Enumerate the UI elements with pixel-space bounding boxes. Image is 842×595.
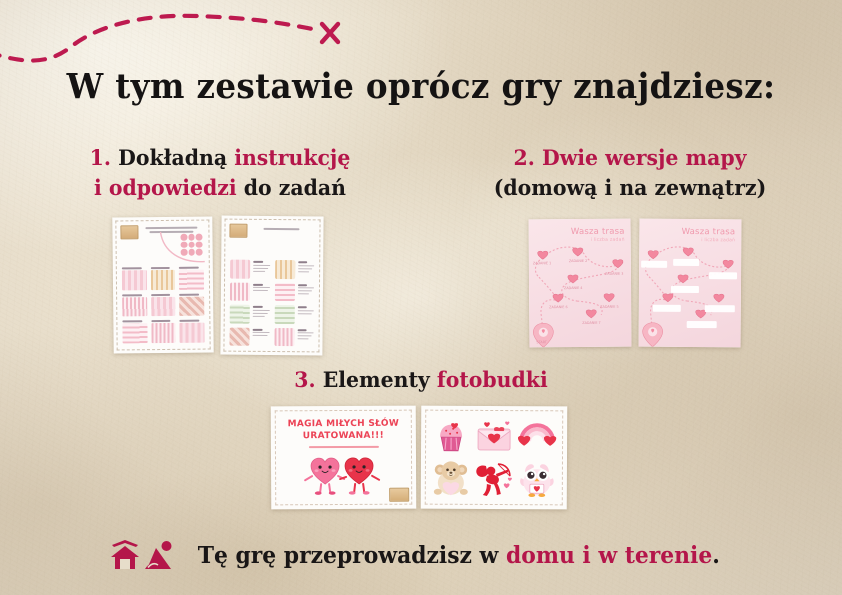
cupid-icon (474, 460, 514, 498)
photobooth-sign-text: MAGIA MIŁYCH SŁÓW URATOWANA!!! (271, 418, 416, 443)
content-block (151, 294, 176, 317)
heart-waypoint (553, 294, 563, 302)
sign-line-2: URATOWANA!!! (303, 431, 384, 441)
footer-period: . (712, 542, 720, 569)
list-item-3-label: 3. Elementy fotobudki (231, 366, 611, 396)
color-swatch-grid (180, 234, 202, 256)
heart-waypoint (663, 294, 673, 302)
item-2-line1-accent: Dwie wersje mapy (542, 146, 747, 171)
item-3-number: 3. (294, 368, 315, 393)
answer-row (230, 260, 270, 279)
item-1-line1-black: Dokładną (118, 146, 227, 171)
content-block (179, 293, 204, 316)
prop-cell[interactable] (515, 458, 558, 501)
map-waypoint-label: ZADANIE 2 (569, 259, 587, 263)
answer-row (230, 282, 270, 301)
answer-row-list (229, 260, 314, 347)
item-3-line1-accent: fotobudki (437, 368, 548, 393)
rainbow-hearts-icon (516, 419, 558, 453)
answers-page-thumbnail[interactable] (220, 216, 323, 356)
footer-text-accent: domu i w terenie (506, 542, 712, 569)
page-dashed-border (115, 220, 210, 351)
scroll-stamp-icon (389, 488, 409, 502)
heart-waypoint (613, 260, 623, 268)
pink-heart-character (305, 458, 344, 495)
heart-waypoint (648, 251, 658, 259)
content-block-grid (122, 267, 205, 344)
item-2-line2-black: (domową i na zewnątrz) (494, 176, 767, 201)
outdoor-mountain-icon (144, 540, 174, 570)
footer-icon-group (108, 540, 174, 570)
love-letter-icon (474, 418, 514, 454)
content-block (179, 267, 204, 290)
answer-row (274, 328, 314, 347)
list-item-1-label: 1. Dokładną instrukcję i odpowiedzi do z… (30, 144, 410, 204)
house-icon (108, 540, 142, 570)
photobooth-props-thumbnail[interactable] (421, 406, 568, 510)
map-waypoint-label: ZADANIE 3 (605, 272, 623, 276)
answer-row (229, 327, 269, 346)
footer-text: Tę grę przeprowadzisz w domu i w terenie… (198, 542, 720, 569)
map-blank-label[interactable] (671, 286, 699, 293)
prop-cell[interactable] (472, 457, 515, 500)
page-title: W tym zestawie oprócz gry znajdziesz: (29, 66, 812, 107)
item-3-line1-black: Elementy (323, 368, 430, 393)
answer-row (274, 283, 314, 302)
heart-waypoint (538, 251, 548, 259)
item-1-number: 1. (90, 146, 111, 171)
content-block (122, 267, 147, 290)
props-grid (430, 415, 558, 501)
prop-cell[interactable] (515, 415, 558, 458)
heart-waypoint (683, 248, 693, 256)
page-dashed-border (223, 219, 320, 353)
sign-line-1: MAGIA MIŁYCH SŁÓW (288, 419, 400, 430)
map-filled-thumbnail[interactable]: Wasza trasa i liczba zadań ZADANIE 1 ZAD… (529, 219, 632, 348)
content-block (180, 320, 205, 343)
map-route (529, 219, 632, 348)
map-waypoint-label: ZADANIE 1 (533, 261, 551, 265)
owl-with-letter-icon (517, 460, 555, 498)
map-blank-label[interactable] (653, 305, 681, 312)
heart-waypoint (714, 294, 724, 302)
instruction-page-thumbnail[interactable] (112, 216, 213, 353)
content-block (151, 320, 176, 343)
list-item-2-label: 2. Dwie wersje mapy (domową i na zewnątr… (440, 144, 820, 204)
prop-cell[interactable] (473, 415, 516, 458)
item-1-line1-accent: instrukcję (234, 146, 350, 171)
prop-cell[interactable] (430, 415, 473, 458)
answer-row (274, 305, 314, 324)
map-blank-label[interactable] (673, 259, 699, 266)
content-block (150, 267, 175, 290)
item-1-line2-accent: i odpowiedzi (94, 176, 237, 201)
content-block (122, 320, 147, 343)
item-2-number: 2. (514, 146, 535, 171)
map-route (639, 219, 742, 348)
item-1-line2-black: do zadań (244, 176, 346, 201)
map-blank-label[interactable] (687, 321, 717, 328)
map-start-label: START (536, 340, 546, 344)
footer-note: Tę grę przeprowadzisz w domu i w terenie… (0, 540, 842, 570)
content-block (122, 294, 147, 317)
map-waypoint-label: ZADANIE 6 (549, 305, 567, 309)
map-waypoint-label: ZADANIE 7 (582, 321, 600, 325)
teddy-bear-icon (432, 459, 470, 497)
heart-waypoint (723, 260, 733, 268)
map-blank-label[interactable] (705, 305, 735, 312)
prop-cell[interactable] (430, 457, 473, 500)
x-mark-icon (322, 24, 338, 42)
map-waypoint-label: ZADANIE 4 (564, 286, 582, 290)
map-waypoint-label: ZADANIE 5 (600, 305, 618, 309)
map-blank-label[interactable] (641, 261, 667, 268)
heart-waypoint (586, 310, 596, 318)
map-blank-label[interactable] (709, 272, 737, 279)
page-heading-lines (249, 226, 313, 231)
scroll-logo-icon (229, 224, 247, 238)
start-pin-icon (643, 323, 663, 347)
answer-row (275, 260, 315, 279)
footer-text-black: Tę grę przeprowadzisz w (198, 542, 499, 569)
scroll-logo-icon (120, 225, 138, 239)
photobooth-sign-thumbnail[interactable]: MAGIA MIŁYCH SŁÓW URATOWANA!!! (271, 406, 417, 510)
answer-row (230, 305, 270, 324)
cupcake-icon (433, 417, 469, 455)
heart-waypoint (573, 248, 583, 256)
map-blank-thumbnail[interactable]: Wasza trasa i liczba zadań (639, 219, 742, 348)
heart-waypoint (604, 294, 614, 302)
red-heart-character (340, 458, 379, 495)
